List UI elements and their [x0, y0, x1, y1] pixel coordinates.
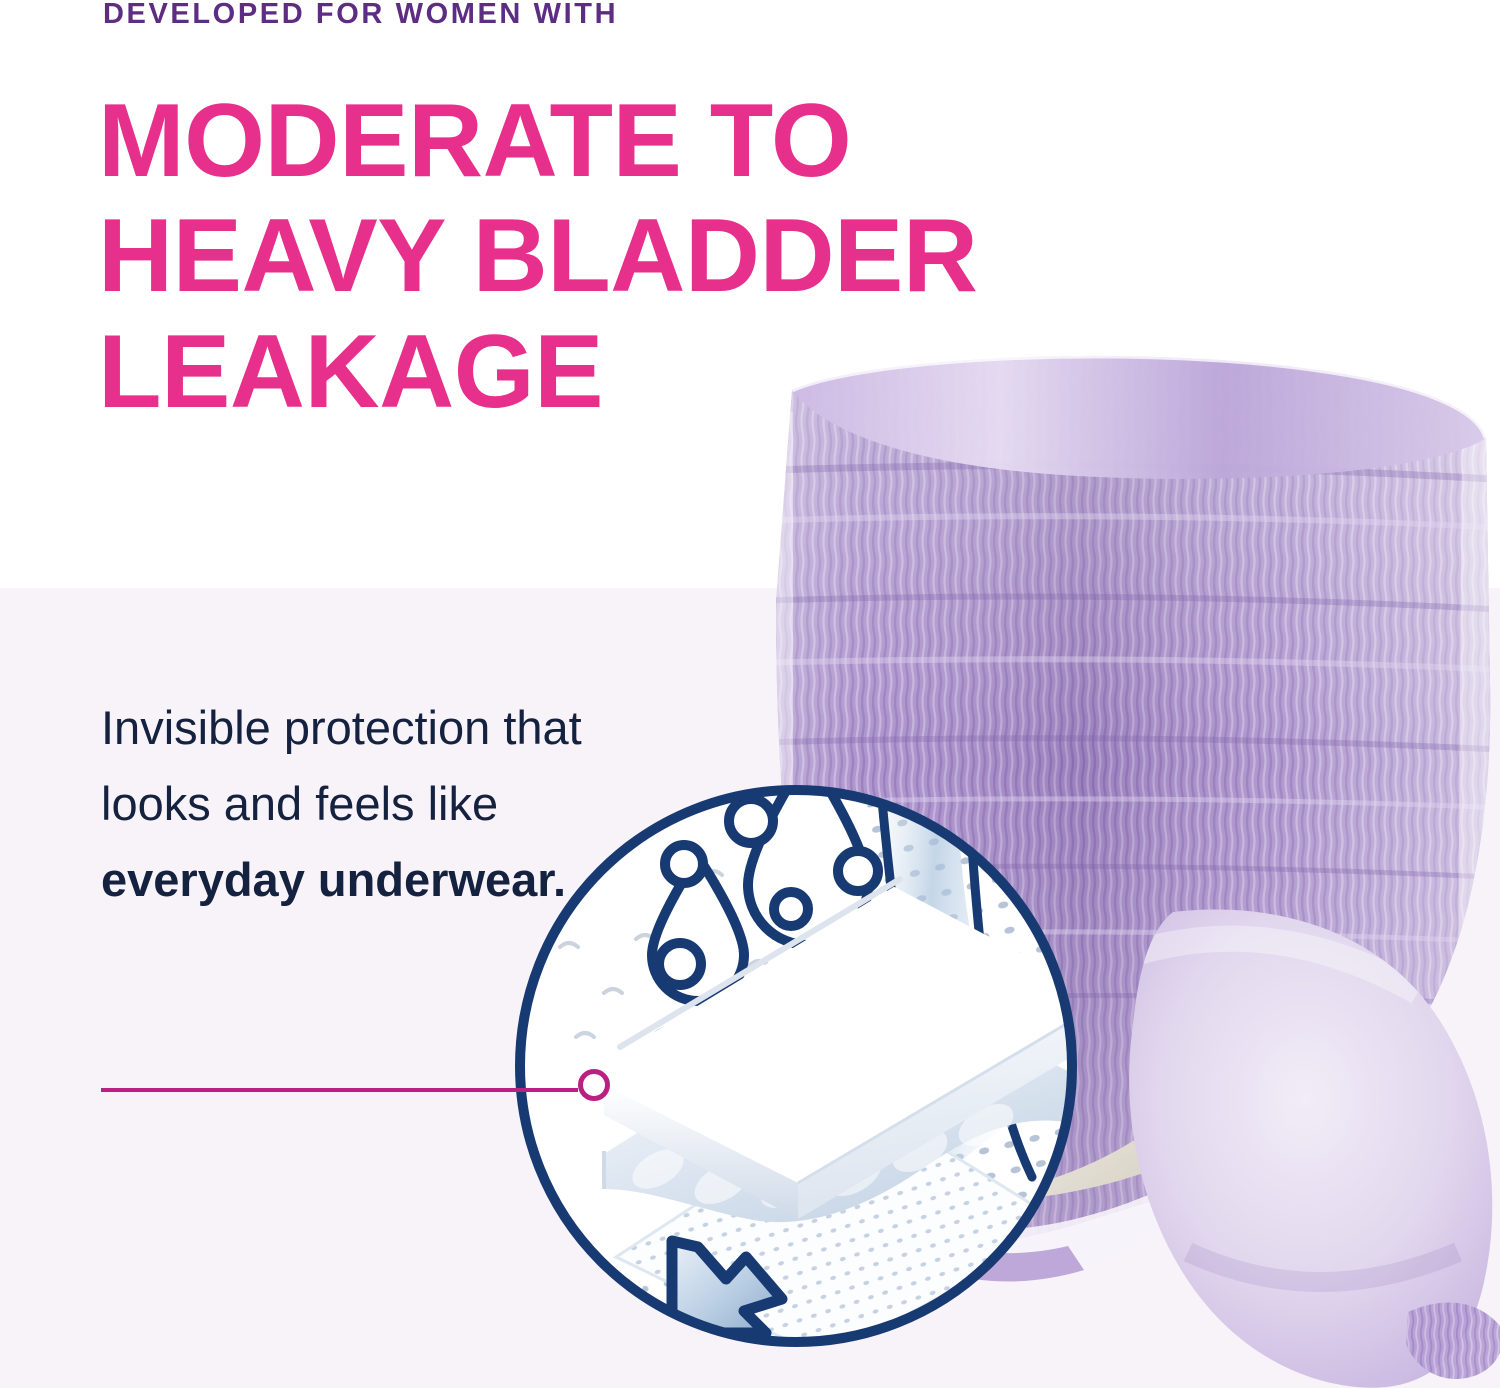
bubble-circle-icon: [729, 799, 773, 843]
bubble-circle-icon: [659, 943, 701, 985]
body-copy: Invisible protection that looks and feel…: [101, 690, 591, 918]
callout-connector-marker: [578, 1069, 610, 1101]
callout-connector-line: [101, 1088, 578, 1092]
bubble-circle-icon: [774, 892, 808, 926]
body-copy-emphasis: everyday underwear.: [101, 853, 566, 906]
eyebrow-text: DEVELOPED FOR WOMEN WITH: [103, 0, 618, 32]
body-copy-lead: Invisible protection that looks and feel…: [101, 701, 582, 830]
page-title: MODERATE TO HEAVY BLADDER LEAKAGE: [98, 84, 1218, 430]
bubble-circle-icon: [838, 851, 878, 891]
bubble-circle-icon: [665, 845, 703, 883]
product-marketing-panel: DEVELOPED FOR WOMEN WITH MODERATE TO HEA…: [0, 0, 1500, 1388]
